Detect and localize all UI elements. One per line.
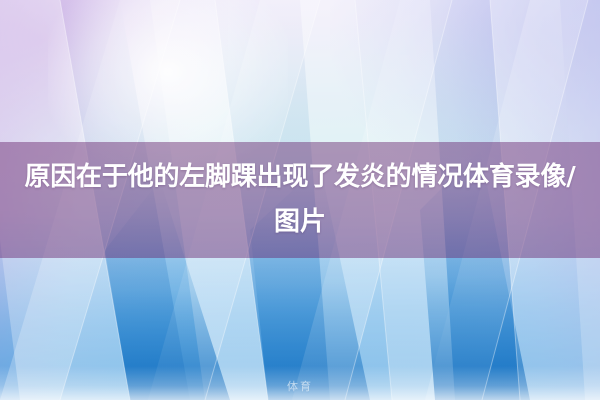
watermark-text: 体育 [287, 378, 313, 394]
image-caption-card: 原因在于他的左脚踝出现了发炎的情况体育录像/ 图片 体育 [0, 0, 600, 400]
caption-line-2: 图片 [274, 200, 326, 245]
caption-line-1: 原因在于他的左脚踝出现了发炎的情况体育录像/ [24, 155, 575, 200]
caption-band: 原因在于他的左脚踝出现了发炎的情况体育录像/ 图片 [0, 142, 600, 258]
